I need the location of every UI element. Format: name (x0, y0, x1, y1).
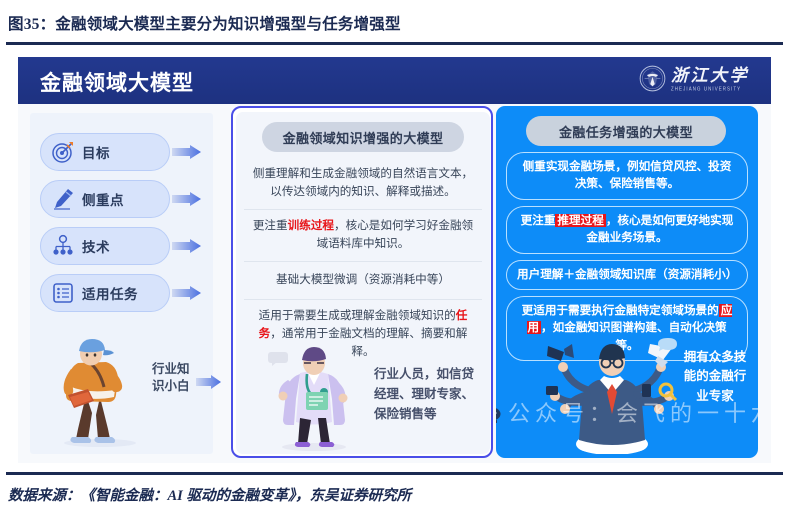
attribute-label-2: 技术 (82, 236, 110, 256)
source-note: 数据来源：《智能金融：AI 驱动的金融变革》，东吴证券研究所 (8, 484, 411, 505)
zju-name-en: ZHEJIANG UNIVERSITY (671, 85, 741, 91)
right-figure-label: 拥有众多技能的金融行业专家 (682, 348, 748, 406)
attribute-pill-focus[interactable]: 侧重点 (40, 180, 170, 218)
arrow-right-icon (172, 285, 202, 301)
student-illustration (38, 329, 158, 449)
zju-name-cn: 浙江大学 (671, 67, 749, 84)
task-enhanced-panel: 金融任务增强的大模型 侧重实现金融场景，例如信贷风控、投资决策、保险销售等。 更… (496, 106, 758, 458)
knowledge-row-tasks-text-a: 适用于需要生成或理解金融领域知识的 (259, 309, 456, 322)
attribute-pill-technology[interactable]: 技术 (40, 227, 170, 265)
task-row-technology: 用户理解＋金融领域知识库（资源消耗小） (506, 260, 748, 290)
knowledge-panel-title: 金融领域知识增强的大模型 (283, 128, 444, 147)
zju-wordmark: 浙江大学 ZHEJIANG UNIVERSITY (671, 67, 749, 91)
knowledge-panel-title-chip: 金融领域知识增强的大模型 (262, 122, 464, 152)
slide-title: 金融领域大模型 (40, 67, 194, 97)
knowledge-row-focus-text-a: 更注重 (253, 219, 288, 232)
figure-caption: 图35：金融领域大模型主要分为知识增强型与任务增强型 (8, 12, 781, 34)
middle-figure-label: 行业人员，如信贷经理、理财专家、保险销售等 (374, 364, 478, 424)
arrow-right-icon (172, 191, 202, 207)
left-figure-label: 行业知识小白 (152, 361, 198, 395)
knowledge-row-focus-highlight: 训练过程 (288, 219, 334, 232)
checklist-icon (51, 281, 75, 305)
zju-emblem-icon (639, 65, 666, 92)
arrow-right-icon (196, 375, 222, 389)
knowledge-row-goal-text: 侧重理解和生成金融领域的自然语言文本，以传达领域内的知识、解释或描述。 (253, 167, 473, 198)
task-panel-title-chip: 金融任务增强的大模型 (526, 116, 726, 146)
wechat-icon (496, 401, 502, 423)
professional-illustration (260, 340, 368, 452)
figure-page: 图35：金融领域大模型主要分为知识增强型与任务增强型 金融领域大模型 浙江大学 … (0, 0, 789, 518)
attribute-row-2[interactable]: 技术 (40, 225, 205, 266)
multi-arm-expert-illustration (538, 328, 686, 454)
task-row-focus-text-a: 更注重 (521, 214, 556, 227)
knowledge-panel-rows: 侧重理解和生成金融领域的自然语言文本，以传达领域内的知识、解释或描述。 更注重训… (244, 158, 482, 369)
knowledge-panel-inner: 金融领域知识增强的大模型 侧重理解和生成金融领域的自然语言文本，以传达领域内的知… (236, 112, 490, 454)
attribute-label-1: 侧重点 (82, 189, 124, 209)
source-divider (6, 472, 783, 475)
task-row-focus: 更注重推理过程，核心是如何更好地实现金融业务场景。 (506, 206, 748, 254)
arrow-right-icon (172, 144, 202, 160)
pencil-icon (51, 187, 75, 211)
hierarchy-icon (51, 234, 75, 258)
task-row-goal: 侧重实现金融场景，例如信贷风控、投资决策、保险销售等。 (506, 152, 748, 200)
attribute-label-0: 目标 (82, 142, 110, 162)
knowledge-row-technology-text: 基础大模型微调（资源消耗中等） (276, 273, 450, 286)
task-row-focus-text-b: ，核心是如何更好地实现金融业务场景。 (586, 214, 733, 244)
knowledge-row-goal: 侧重理解和生成金融领域的自然语言文本，以传达领域内的知识、解释或描述。 (244, 158, 482, 210)
zju-logo: 浙江大学 ZHEJIANG UNIVERSITY (639, 65, 749, 92)
knowledge-row-technology: 基础大模型微调（资源消耗中等） (244, 262, 482, 300)
caption-divider-top (6, 42, 783, 45)
attribute-row-0[interactable]: 目标 (40, 131, 205, 172)
task-row-focus-highlight: 推理过程 (555, 214, 605, 227)
knowledge-enhanced-panel: 金融领域知识增强的大模型 侧重理解和生成金融领域的自然语言文本，以传达领域内的知… (231, 106, 493, 458)
attribute-label-3: 适用任务 (82, 283, 138, 303)
knowledge-row-focus: 更注重训练过程，核心是如何学习好金融领域语料库中知识。 (244, 210, 482, 262)
task-row-technology-text: 用户理解＋金融领域知识库（资源消耗小） (517, 268, 737, 281)
attribute-row-3[interactable]: 适用任务 (40, 272, 205, 313)
knowledge-row-focus-text-b: ，核心是如何学习好金融领域语料库中知识。 (317, 219, 474, 250)
slide-body: 目标 侧重点 (18, 104, 771, 463)
task-row-goal-text: 侧重实现金融场景，例如信贷风控、投资决策、保险销售等。 (523, 160, 732, 190)
attribute-row-1[interactable]: 侧重点 (40, 178, 205, 219)
attribute-pill-target[interactable]: 目标 (40, 133, 170, 171)
task-row-tasks-text-a: 更适用于需要执行金融特定领域场景的 (522, 304, 719, 317)
slide-canvas: 金融领域大模型 浙江大学 ZHEJIANG UNIVERSITY (18, 57, 771, 463)
attribute-pill-tasks[interactable]: 适用任务 (40, 274, 170, 312)
task-panel-title: 金融任务增强的大模型 (559, 122, 693, 141)
left-attribute-column: 目标 侧重点 (30, 113, 213, 454)
target-icon (51, 140, 75, 164)
slide-header: 金融领域大模型 浙江大学 ZHEJIANG UNIVERSITY (18, 57, 771, 104)
arrow-right-icon (172, 238, 202, 254)
